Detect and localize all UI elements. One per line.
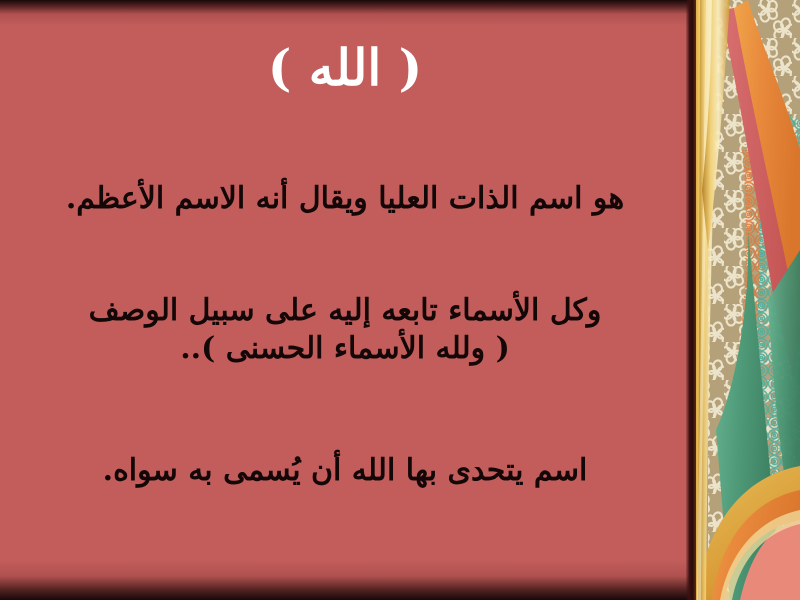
body-paragraph-2-line-2: ( ولله الأسماء الحسنى ).. — [20, 330, 670, 368]
body-paragraph-1: هو اسم الذات العليا ويقال أنه الاسم الأع… — [20, 180, 670, 218]
floral-ribbon-border-graphic — [690, 0, 800, 600]
body-paragraph-2-line-1: وكل الأسماء تابعه إليه على سبيل الوصف — [20, 292, 670, 330]
border-seam-divider — [686, 0, 696, 600]
body-paragraph-3: اسم يتحدى بها الله أن يُسمى به سواه. — [20, 452, 670, 490]
page-title: ( الله ) — [0, 42, 690, 95]
body-paragraph-2: وكل الأسماء تابعه إليه على سبيل الوصف ( … — [20, 292, 670, 369]
decorative-right-border — [690, 0, 800, 600]
presentation-slide: ( الله ) هو اسم الذات العليا ويقال أنه ا… — [0, 0, 800, 600]
slide-text-container: ( الله ) هو اسم الذات العليا ويقال أنه ا… — [0, 0, 690, 600]
